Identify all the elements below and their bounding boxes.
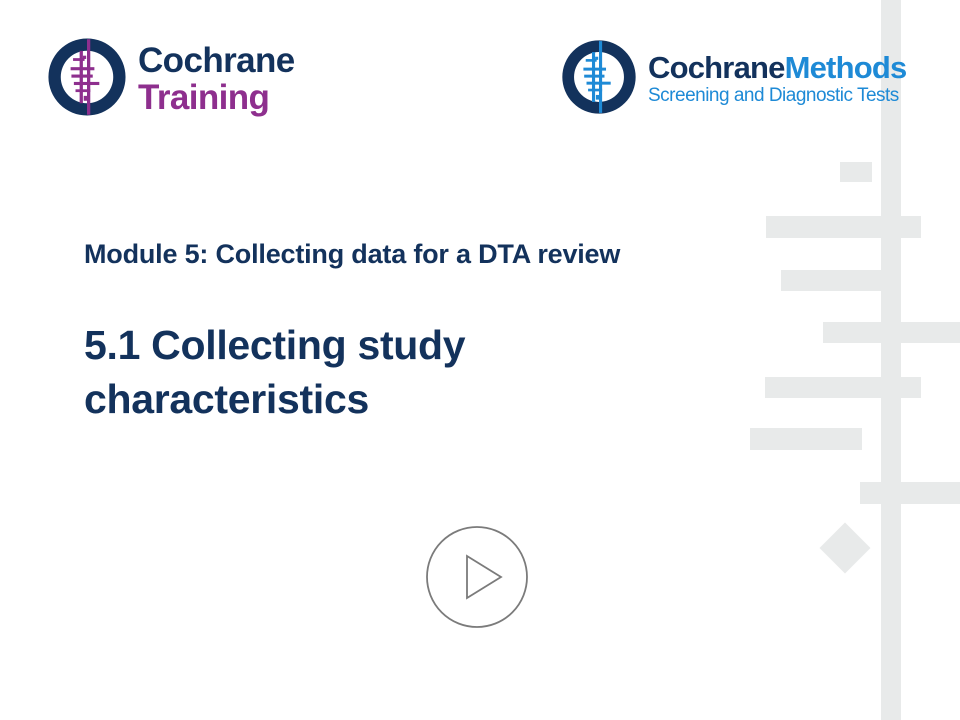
logo-line-subtitle: Screening and Diagnostic Tests — [648, 86, 906, 107]
cochrane-methods-logo: CochraneMethods Screening and Diagnostic… — [560, 38, 906, 121]
logo-line-cochrane: Cochrane — [138, 43, 295, 78]
slide-canvas: Cochrane Training CochraneMethods — [0, 0, 960, 720]
watermark-diamond — [820, 523, 871, 574]
play-triangle-icon — [467, 556, 501, 598]
logo-line-cochrane-methods: CochraneMethods — [648, 52, 906, 83]
logo-line-training: Training — [138, 80, 295, 117]
module-label: Module 5: Collecting data for a DTA revi… — [84, 239, 620, 270]
watermark-bar — [840, 162, 872, 182]
watermark-bar — [823, 322, 960, 343]
logo-word-cochrane: Cochrane — [648, 50, 785, 85]
play-button[interactable] — [423, 523, 531, 631]
watermark-bar — [781, 270, 886, 291]
cochrane-logo-icon — [46, 36, 128, 123]
watermark-bar — [766, 216, 921, 238]
cochrane-logo-icon — [560, 38, 638, 121]
watermark-bar — [750, 428, 862, 450]
watermark-bar — [860, 482, 960, 504]
watermark-bar — [765, 377, 921, 398]
cochrane-training-wordmark: Cochrane Training — [138, 43, 295, 117]
page-title: 5.1 Collecting study characteristics — [84, 318, 644, 426]
play-circle-icon — [427, 527, 527, 627]
logo-word-methods: Methods — [785, 50, 907, 85]
cochrane-methods-wordmark: CochraneMethods Screening and Diagnostic… — [648, 52, 906, 107]
cochrane-training-logo: Cochrane Training — [46, 36, 295, 123]
